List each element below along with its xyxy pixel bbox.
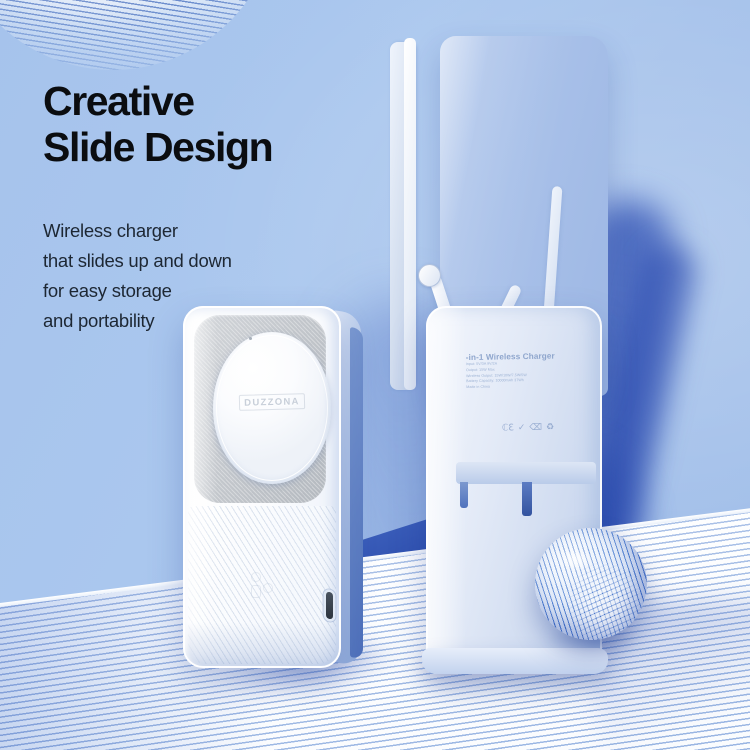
charger-body-front: DUZZONA	[183, 306, 341, 668]
page-title: Creative Slide Design	[43, 79, 363, 170]
usb-c-port	[326, 592, 333, 620]
fold-out-foot-bar	[456, 462, 596, 484]
pivot-hinge	[418, 264, 441, 287]
sphere-swirl-texture	[535, 528, 647, 640]
certification-marks: ℂℇ ✓ ⌫ ♻	[502, 422, 554, 434]
rohs-mark-icon: ⌫	[529, 422, 542, 433]
slider-rail-inner	[404, 38, 416, 390]
fold-out-foot-left	[460, 482, 468, 508]
subheading-line-1: Wireless charger	[43, 216, 363, 246]
weee-bin-icon: ♻	[546, 422, 554, 433]
subheading-line-2: that slides up and down	[43, 246, 363, 276]
headline-line-1: Creative	[43, 78, 194, 124]
ce-mark-icon: ℂℇ	[502, 422, 514, 433]
sphere-highlight	[556, 544, 596, 576]
fold-out-foot-right	[522, 482, 532, 516]
product-marketing-banner: Creative Slide Design Wireless charger t…	[0, 0, 750, 750]
charger-side-edge	[350, 327, 363, 659]
marketing-copy-block: Creative Slide Design Wireless charger t…	[43, 79, 363, 337]
subheading-line-3: for easy storage	[43, 276, 363, 306]
ribbed-dome-accent	[0, 0, 278, 70]
product-front-view: DUZZONA	[183, 306, 361, 674]
headline-line-2: Slide Design	[43, 125, 363, 171]
charger-body-front-rim	[183, 306, 341, 668]
ukca-mark-icon: ✓	[518, 422, 526, 433]
spec-label: -in-1 Wireless Charger Input: 5V/3A 9V/2…	[466, 351, 589, 391]
